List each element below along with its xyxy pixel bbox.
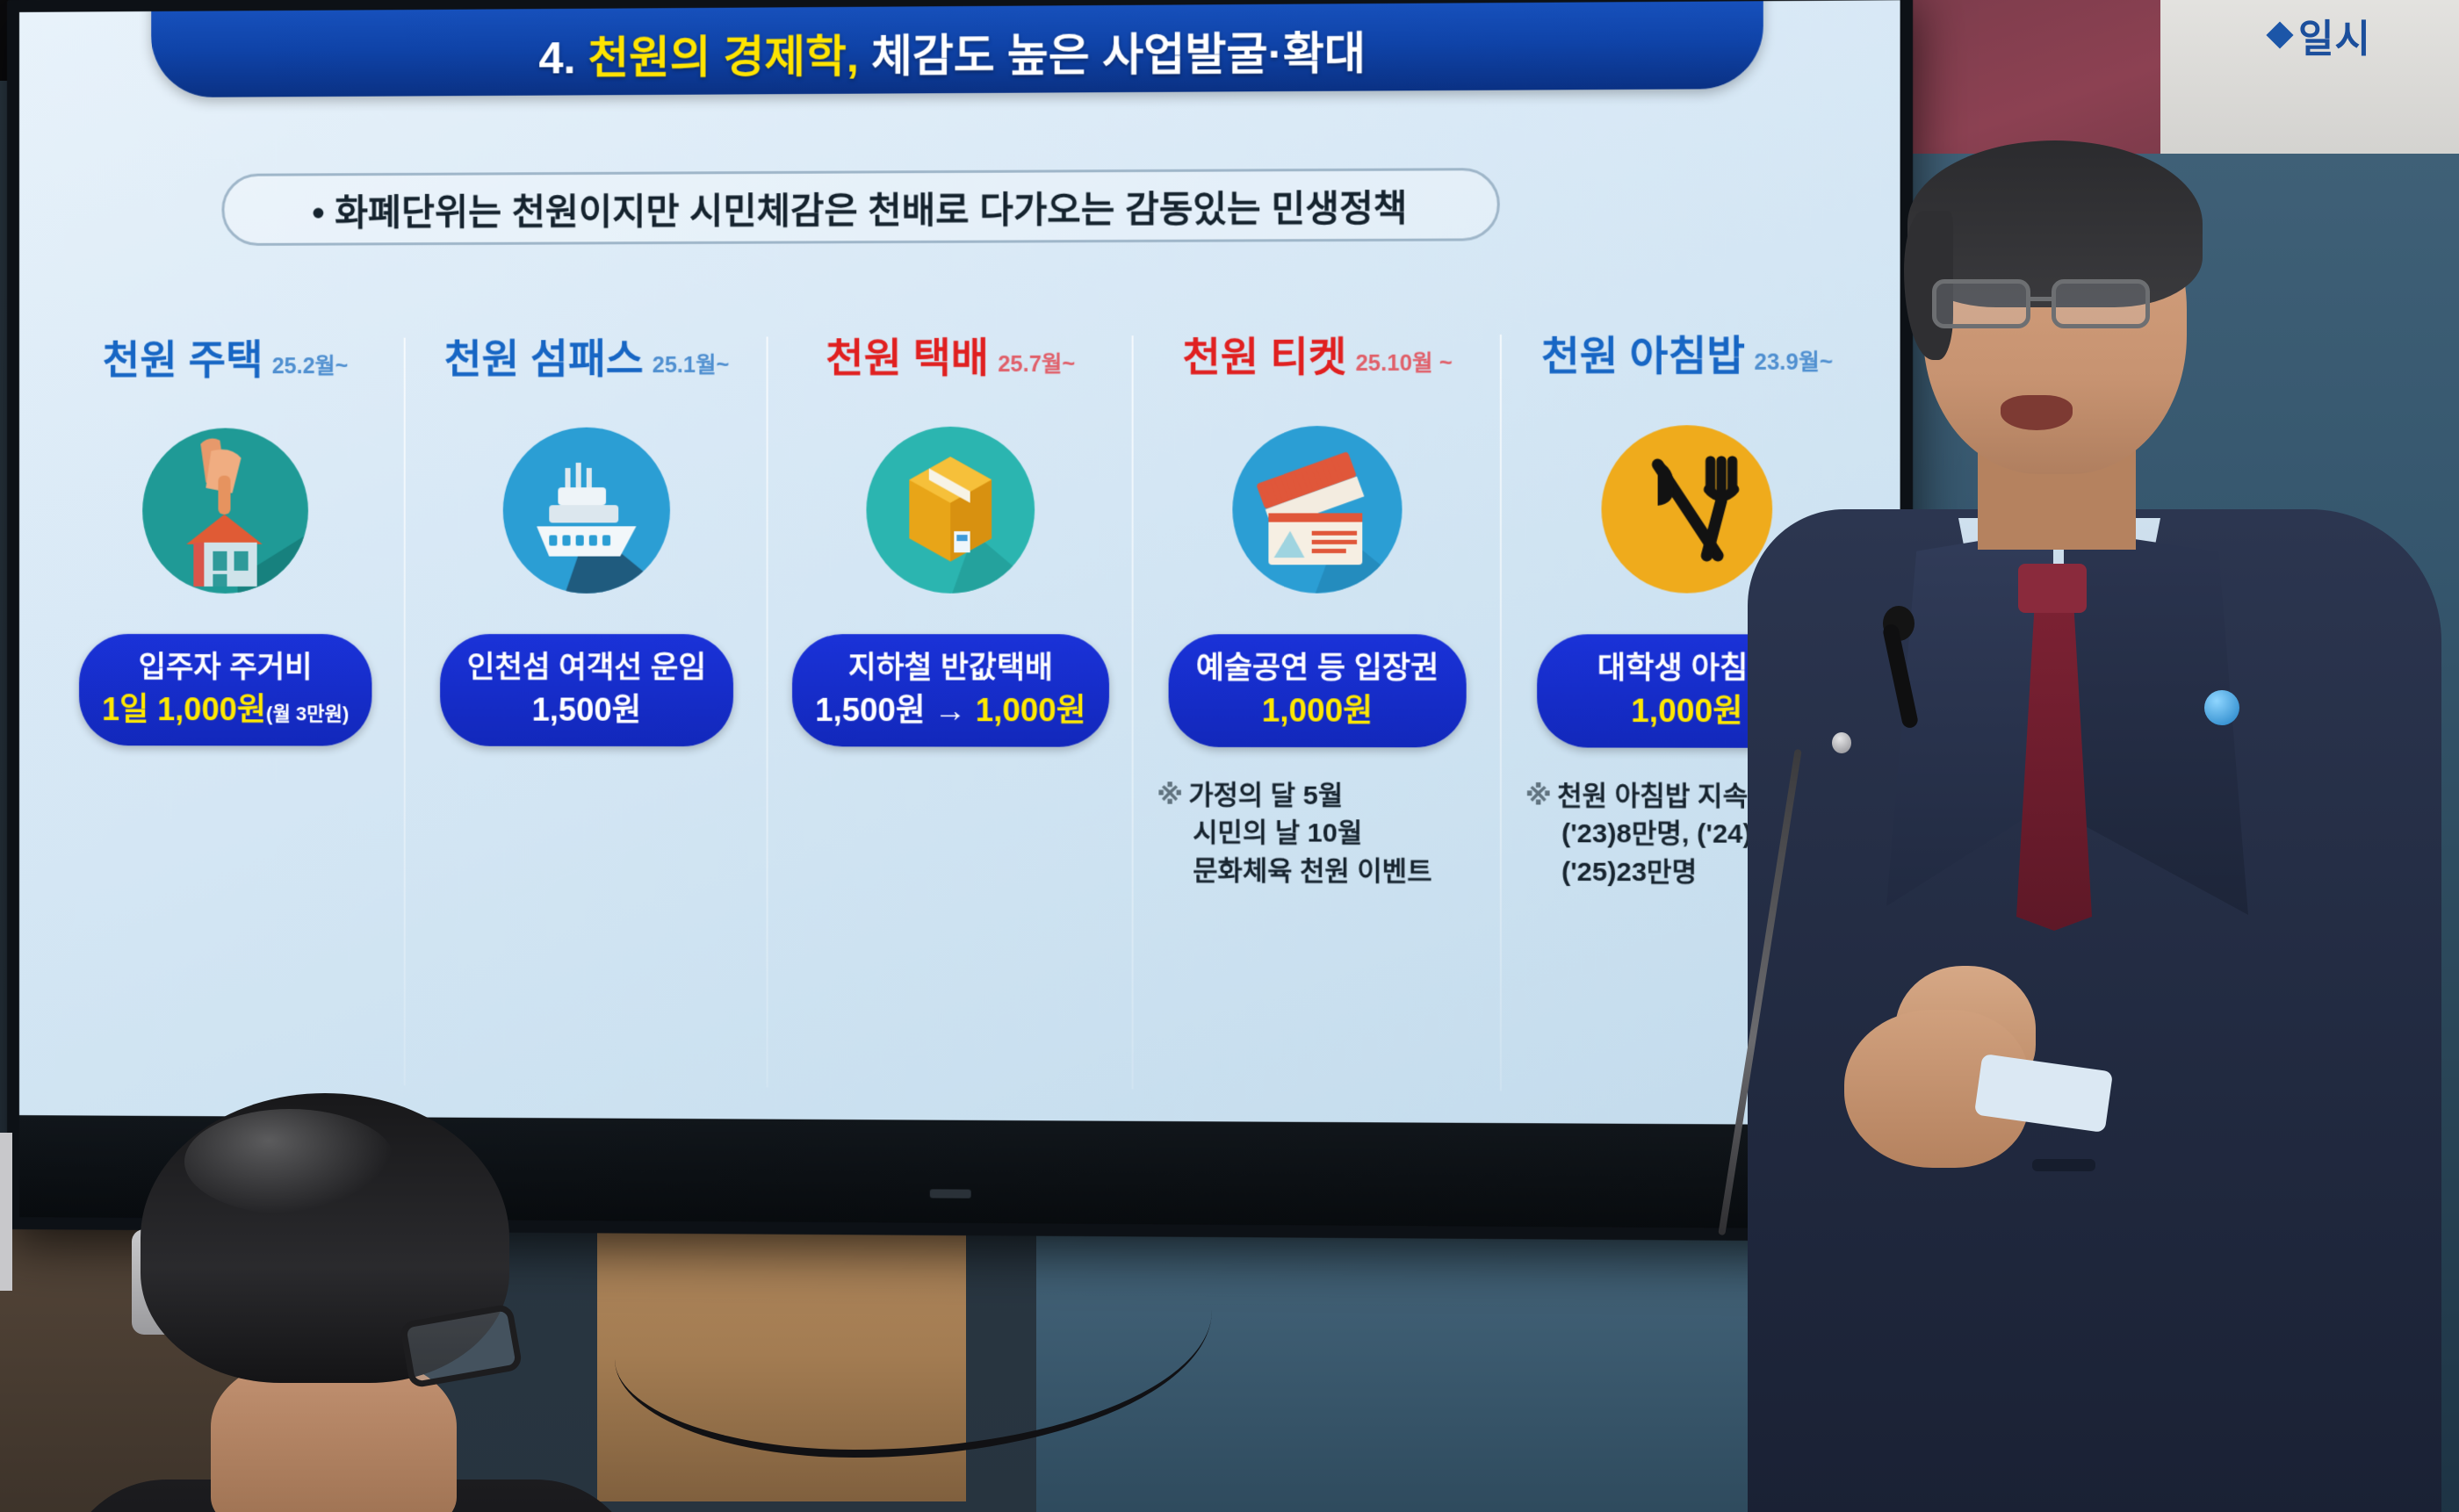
presenter-eyeglass-bridge [2030, 297, 2052, 301]
diamond-bullet-icon [2266, 21, 2293, 48]
background-banner-label: 일시 [2298, 7, 2371, 63]
audience-hair-highlight [184, 1109, 395, 1214]
presenter-mouth [2001, 395, 2073, 430]
presenter-eyeglass-left [1932, 279, 2030, 328]
presenter-lapel-badge [2204, 690, 2239, 725]
presenter-tie-knot [2018, 564, 2087, 613]
presenter-person [1669, 132, 2459, 1512]
presenter-eyeglass-right [2052, 279, 2150, 328]
audience-person [114, 1093, 571, 1512]
photo-scene: 일시 4. 천원의 경제학, 체감도 높은 사업발굴·확대 • 화폐단위는 천원… [0, 0, 2459, 1512]
presentation-display: 4. 천원의 경제학, 체감도 높은 사업발굴·확대 • 화폐단위는 천원이지만… [7, 0, 1913, 1242]
display-bezel [7, 0, 1913, 1242]
desk-lamp-stand [0, 1133, 12, 1291]
background-banner: 일시 [2270, 7, 2371, 63]
pointer-tip-icon [1832, 732, 1851, 753]
presenter-sleeve-detail [2032, 1159, 2095, 1171]
